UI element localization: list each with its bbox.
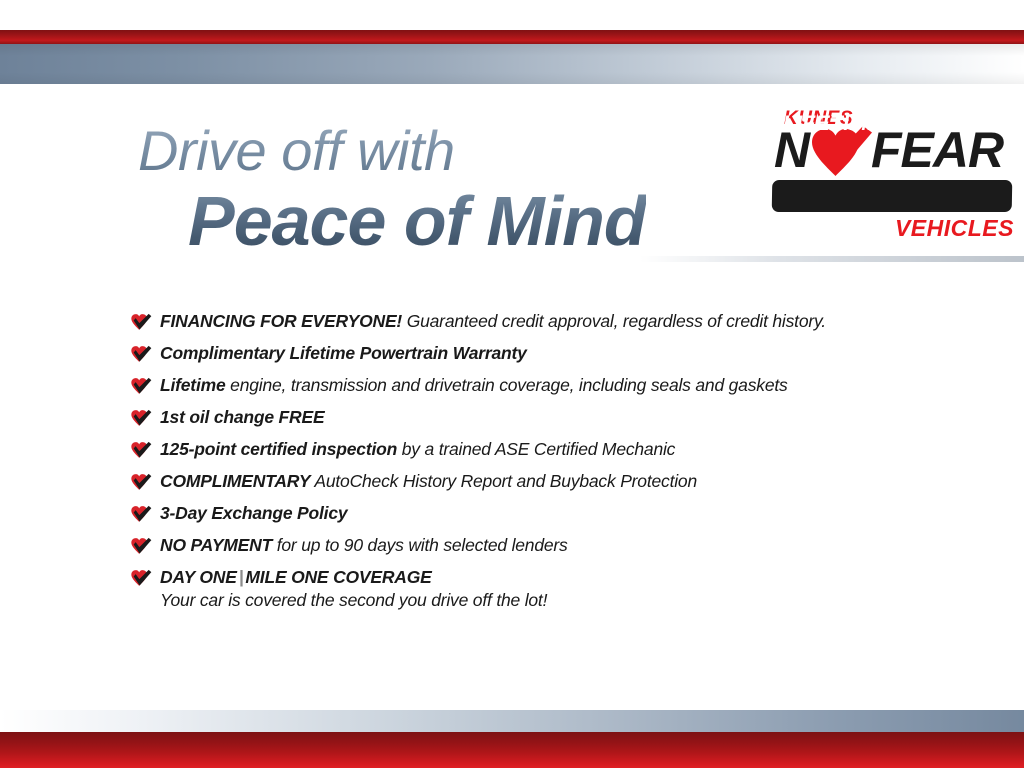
list-item-text: FINANCING FOR EVERYONE! Guaranteed credi… — [160, 310, 930, 332]
heart-checkmark-icon — [130, 569, 152, 588]
list-item-detail: Guaranteed credit approval, regardless o… — [402, 311, 826, 331]
list-item-text: Complimentary Lifetime Powertrain Warran… — [160, 342, 930, 364]
heart-checkmark-icon — [130, 473, 152, 492]
benefits-list: FINANCING FOR EVERYONE! Guaranteed credi… — [130, 310, 930, 611]
list-item-text: 1st oil change FREE — [160, 406, 930, 428]
list-item: DAY ONE|MILE ONE COVERAGE Your car is co… — [130, 566, 930, 611]
list-item-lead: 1st oil change FREE — [160, 407, 324, 427]
list-item-detail: engine, transmission and drivetrain cove… — [226, 375, 788, 395]
bottom-decorative-banner — [0, 688, 1024, 768]
list-item: Lifetime engine, transmission and drivet… — [130, 374, 930, 406]
heart-checkmark-icon — [130, 377, 152, 396]
heart-checkmark-icon — [130, 345, 152, 364]
kunes-no-fear-logo: KUNES N FEAR LIFETIME CERTIFIED VEHICLES — [772, 108, 1016, 248]
list-item-headline: DAY ONE|MILE ONE COVERAGE — [160, 567, 432, 587]
heart-checkmark-icon — [130, 409, 152, 428]
list-item-lead: COMPLIMENTARY — [160, 471, 310, 491]
list-item: 1st oil change FREE — [130, 406, 930, 438]
logo-lifetime-certified-text: LIFETIME CERTIFIED — [772, 108, 1013, 140]
list-item-detail: by a trained ASE Certified Mechanic — [397, 439, 675, 459]
list-item-text: DAY ONE|MILE ONE COVERAGE Your car is co… — [160, 566, 547, 611]
bottom-red-stripe — [0, 732, 1024, 768]
list-item-lead: Lifetime — [160, 375, 226, 395]
list-item-lead: FINANCING FOR EVERYONE! — [160, 311, 402, 331]
list-item: NO PAYMENT for up to 90 days with select… — [130, 534, 930, 566]
list-item-detail: AutoCheck History Report and Buyback Pro… — [310, 471, 697, 491]
heart-checkmark-icon — [130, 313, 152, 332]
heart-checkmark-icon — [130, 537, 152, 556]
logo-lifetime-certified-banner — [772, 180, 1013, 212]
list-item-text: 3-Day Exchange Policy — [160, 502, 930, 524]
list-item-text: Lifetime engine, transmission and drivet… — [160, 374, 930, 396]
list-item: FINANCING FOR EVERYONE! Guaranteed credi… — [130, 310, 930, 342]
bottom-gray-stripe — [0, 710, 1024, 732]
list-item: COMPLIMENTARY AutoCheck History Report a… — [130, 470, 930, 502]
top-red-stripe — [0, 30, 1024, 44]
top-decorative-banner — [0, 0, 1024, 88]
top-gray-stripe-shading — [0, 44, 1024, 84]
list-item-lead: 125-point certified inspection — [160, 439, 397, 459]
list-item-detail: for up to 90 days with selected lenders — [272, 535, 568, 555]
list-item-text: 125-point certified inspection by a trai… — [160, 438, 930, 460]
list-item: 125-point certified inspection by a trai… — [130, 438, 930, 470]
list-item: 3-Day Exchange Policy — [130, 502, 930, 534]
list-item-text: COMPLIMENTARY AutoCheck History Report a… — [160, 470, 930, 492]
logo-vehicles-wordmark: VEHICLES — [895, 215, 1014, 242]
list-item-text: NO PAYMENT for up to 90 days with select… — [160, 534, 930, 556]
list-item-subline: Your car is covered the second you drive… — [160, 589, 547, 611]
list-item-lead: DAY ONE — [160, 567, 237, 587]
list-item-lead: NO PAYMENT — [160, 535, 272, 555]
headline-divider — [640, 256, 1024, 262]
headline: Drive off with Peace of Mind — [138, 122, 646, 260]
headline-line-1: Drive off with — [138, 122, 646, 180]
list-item-lead: Complimentary Lifetime Powertrain Warran… — [160, 343, 527, 363]
list-item-lead: 3-Day Exchange Policy — [160, 503, 347, 523]
list-item-lead-2: MILE ONE COVERAGE — [245, 567, 431, 587]
headline-line-2: Peace of Mind — [188, 182, 646, 260]
heart-checkmark-icon — [130, 505, 152, 524]
heart-checkmark-icon — [130, 441, 152, 460]
list-item: Complimentary Lifetime Powertrain Warran… — [130, 342, 930, 374]
